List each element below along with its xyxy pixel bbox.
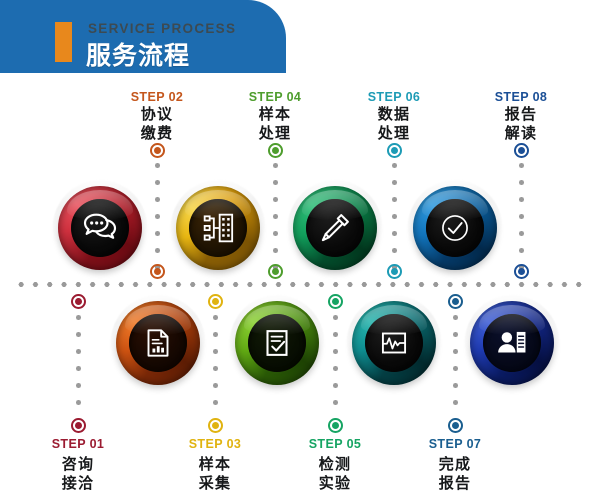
marker-step-05-timeline[interactable] [328,294,343,309]
marker-step-06-top[interactable] [387,143,402,158]
step-title-01-line2: 接洽 [18,474,138,493]
marker-step-03-timeline[interactable] [208,294,223,309]
step-title-06-line2: 处理 [334,124,454,143]
orb-step-04[interactable] [176,186,260,270]
step-title-04-line1: 样本 [215,105,335,124]
orb-step-05[interactable] [352,301,436,385]
check-circle-icon [435,208,475,248]
orb-step-07[interactable] [470,301,554,385]
dropper-pipette-icon [315,208,355,248]
banner-title-chinese: 服务流程 [86,36,190,72]
checklist-document-icon [258,324,296,362]
marker-step-08-timeline[interactable] [514,264,529,279]
label-step-04[interactable]: STEP 04 样本 处理 [215,90,335,143]
step-title-06-line1: 数据 [334,105,454,124]
marker-step-03-bottom[interactable] [208,418,223,433]
step-title-02-line1: 协议 [97,105,217,124]
step-number-04: STEP 04 [215,90,335,105]
marker-step-08-top[interactable] [514,143,529,158]
marker-step-02-top[interactable] [150,143,165,158]
label-step-05[interactable]: STEP 05 检测 实验 [275,437,395,493]
marker-step-01-timeline[interactable] [71,294,86,309]
timeline-dotted-line [14,282,586,287]
step-title-08-line1: 报告 [461,105,581,124]
orb-step-08[interactable] [413,186,497,270]
step-number-05: STEP 05 [275,437,395,452]
label-step-01[interactable]: STEP 01 咨询 接洽 [18,437,138,493]
marker-step-07-timeline[interactable] [448,294,463,309]
orb-step-03[interactable] [235,301,319,385]
connector-step-01 [76,292,81,416]
marker-step-04-timeline[interactable] [268,264,283,279]
step-title-07-line1: 完成 [395,455,515,474]
label-step-03[interactable]: STEP 03 样本 采集 [155,437,275,493]
connector-step-06 [392,157,397,277]
step-number-03: STEP 03 [155,437,275,452]
report-chart-icon [139,324,177,362]
service-process-infographic: SERVICE PROCESS 服务流程 STEP 02 协议 缴费 STEP … [0,0,600,500]
step-title-08-line2: 解读 [461,124,581,143]
step-number-06: STEP 06 [334,90,454,105]
marker-step-05-bottom[interactable] [328,418,343,433]
step-title-01-line1: 咨询 [18,455,138,474]
orb-step-01[interactable] [116,301,200,385]
label-step-07[interactable]: STEP 07 完成 报告 [395,437,515,493]
connector-step-05 [333,292,338,416]
chat-bubbles-icon [80,208,120,248]
connector-step-08 [519,157,524,277]
step-title-05-line1: 检测 [275,455,395,474]
marker-step-02-timeline[interactable] [150,264,165,279]
connector-step-02 [155,157,160,277]
marker-step-07-bottom[interactable] [448,418,463,433]
label-step-06[interactable]: STEP 06 数据 处理 [334,90,454,143]
step-title-04-line2: 处理 [215,124,335,143]
step-number-01: STEP 01 [18,437,138,452]
connector-step-07 [453,292,458,416]
step-title-03-line1: 样本 [155,455,275,474]
connector-step-03 [213,292,218,416]
waveform-monitor-icon [375,324,413,362]
step-number-02: STEP 02 [97,90,217,105]
marker-step-01-bottom[interactable] [71,418,86,433]
orb-step-02[interactable] [58,186,142,270]
person-report-icon [493,324,531,362]
step-title-02-line2: 缴费 [97,124,217,143]
step-title-05-line2: 实验 [275,474,395,493]
connector-step-04 [273,157,278,277]
orb-step-06[interactable] [293,186,377,270]
contract-building-icon [198,208,238,248]
step-number-07: STEP 07 [395,437,515,452]
banner-title-english: SERVICE PROCESS [88,21,236,36]
marker-step-06-timeline[interactable] [387,264,402,279]
step-title-07-line2: 报告 [395,474,515,493]
step-title-03-line2: 采集 [155,474,275,493]
label-step-02[interactable]: STEP 02 协议 缴费 [97,90,217,143]
marker-step-04-top[interactable] [268,143,283,158]
label-step-08[interactable]: STEP 08 报告 解读 [461,90,581,143]
orange-accent-bar [55,22,72,62]
step-number-08: STEP 08 [461,90,581,105]
header-banner: SERVICE PROCESS 服务流程 [0,0,286,73]
